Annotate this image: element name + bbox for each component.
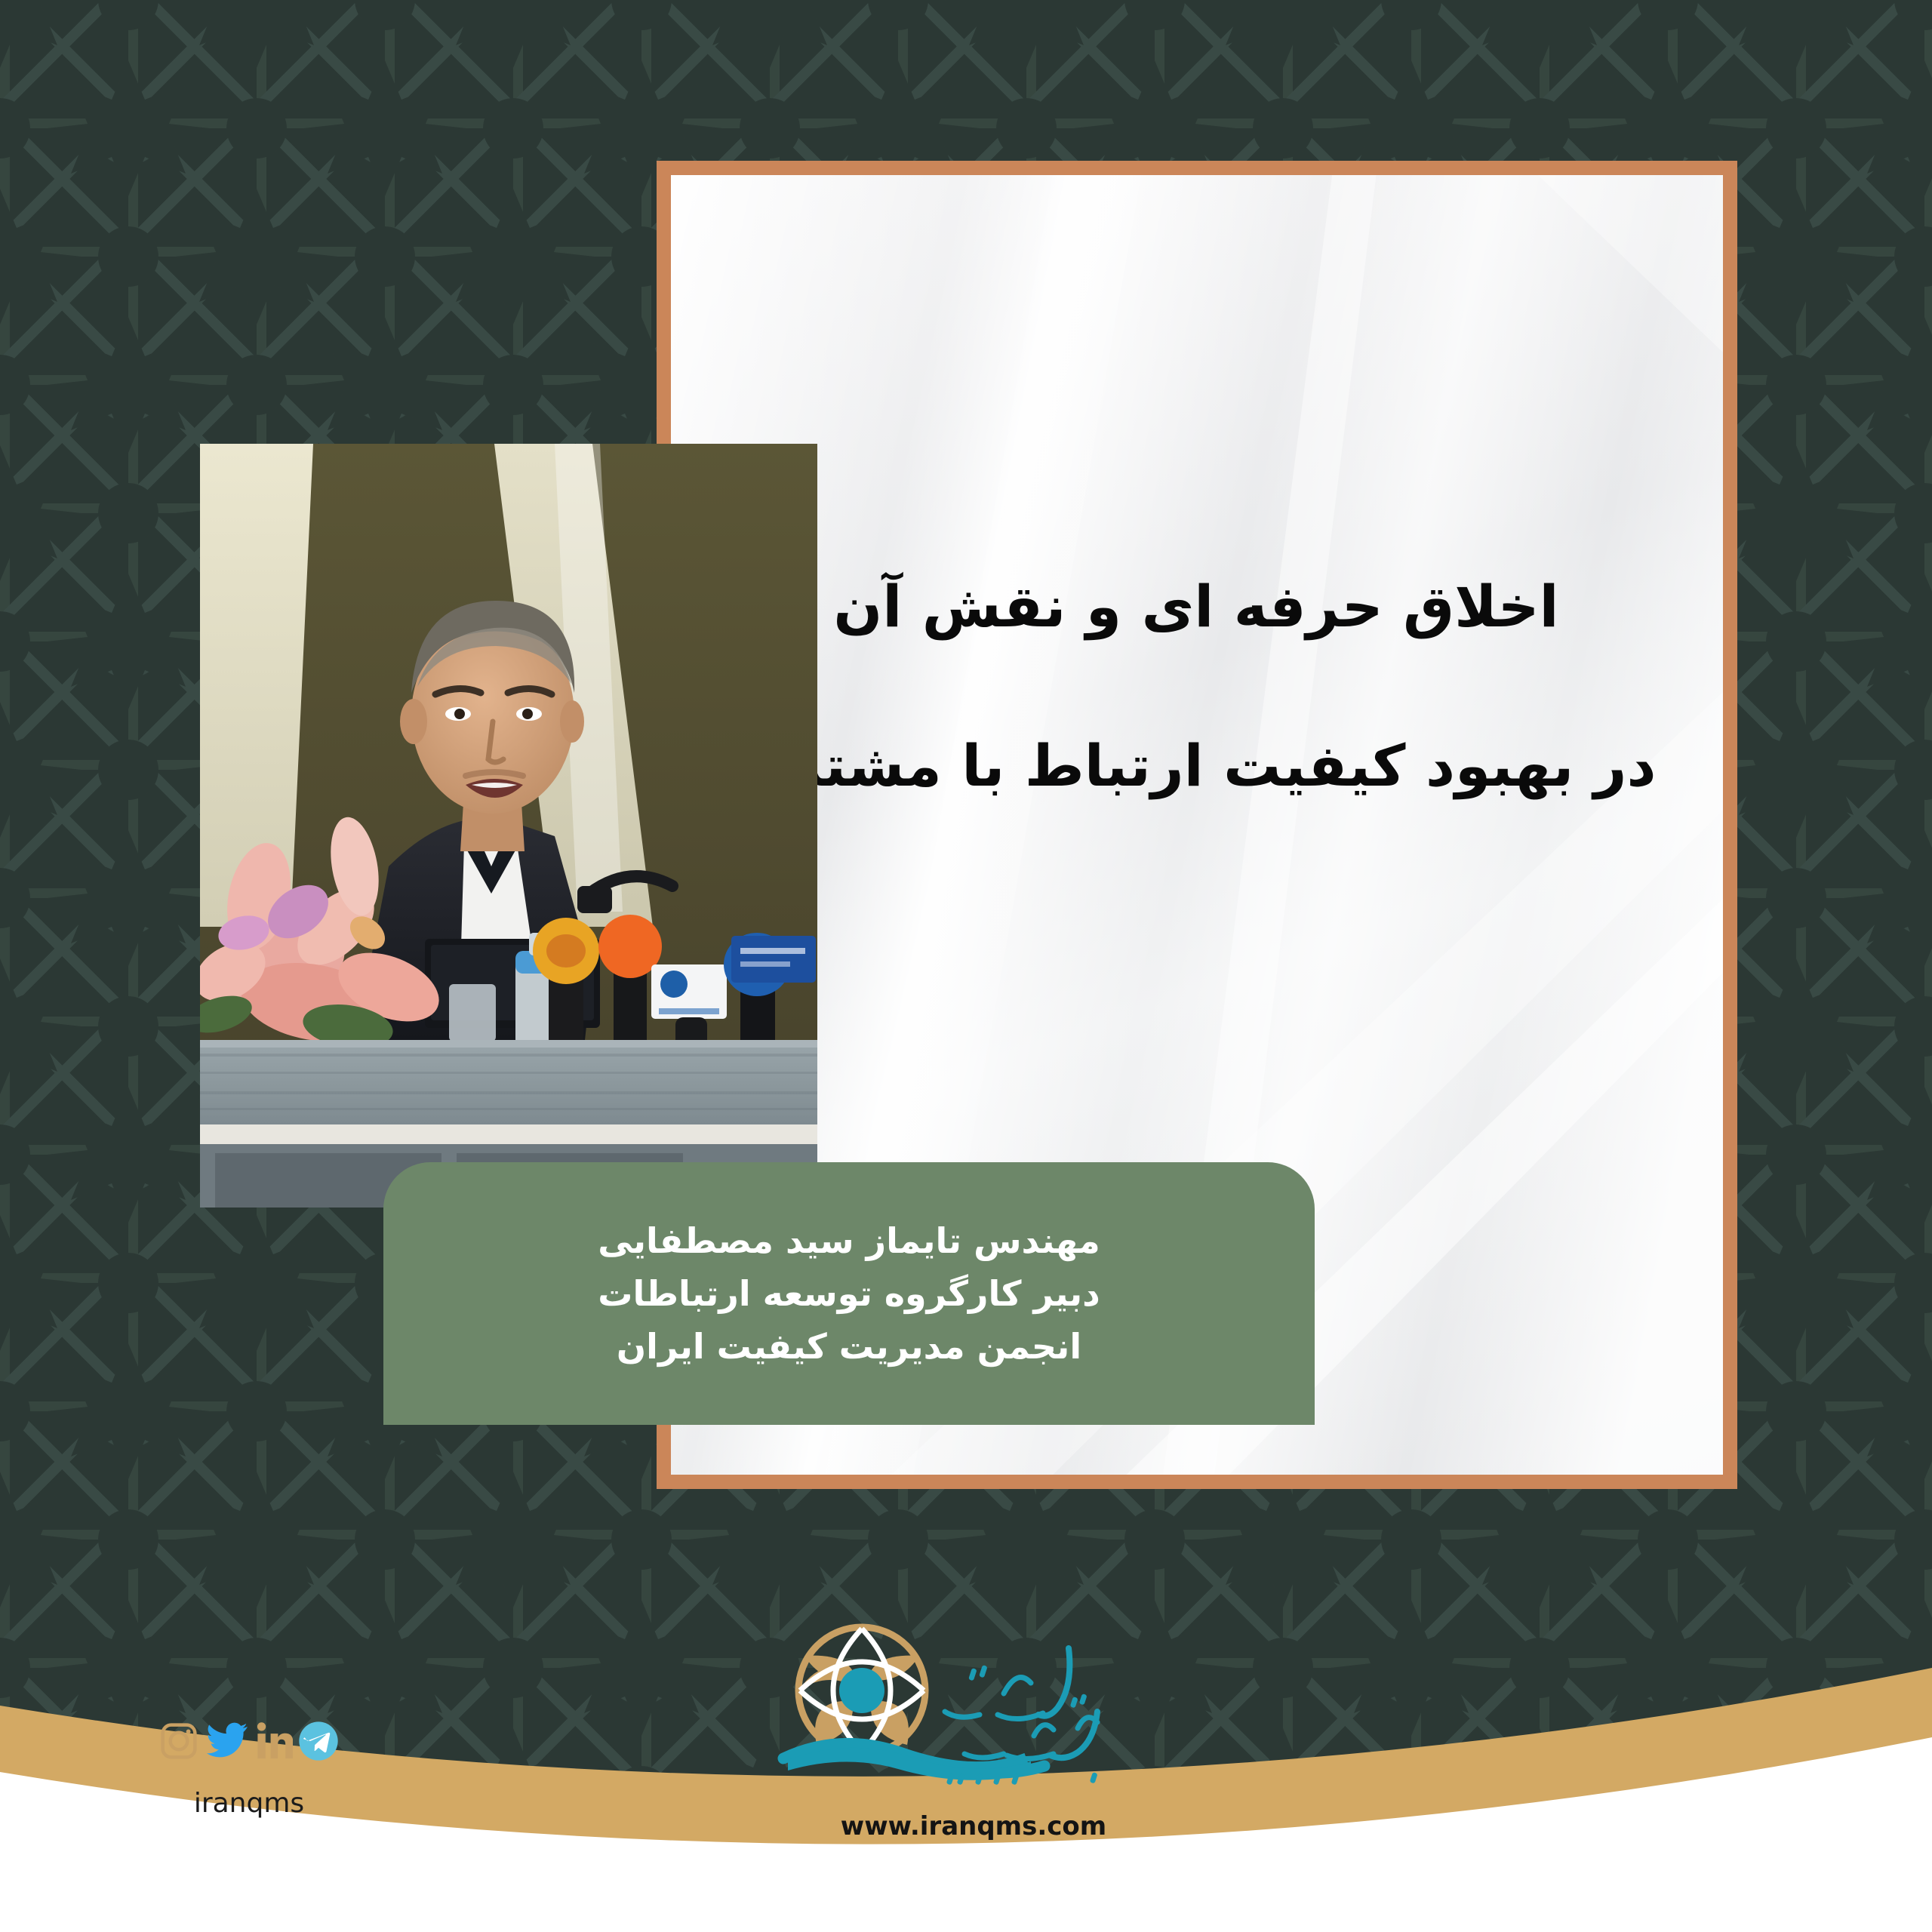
twitter-icon[interactable] <box>204 1721 251 1761</box>
social-icon-row <box>136 1720 362 1762</box>
social-block: iranqms <box>136 1720 362 1819</box>
iranqms-logo-mark <box>762 1618 1185 1807</box>
speaker-organization: انجمن مدیریت کیفیت ایران <box>617 1329 1081 1364</box>
title-line-1: اخلاق حرفه ای و نقش آن <box>694 574 1698 639</box>
website-url[interactable]: www.iranqms.com <box>762 1811 1185 1841</box>
linkedin-icon[interactable] <box>255 1721 293 1761</box>
telegram-icon[interactable] <box>297 1720 340 1762</box>
speaker-photo <box>200 444 817 1207</box>
social-handle: iranqms <box>136 1788 362 1819</box>
organization-logo-block: www.iranqms.com <box>762 1618 1185 1841</box>
speaker-name: مهندس تایماز سید مصطفایی <box>598 1223 1100 1258</box>
title-line-2: در بهبود کیفیت ارتباط با مشتری <box>694 733 1698 798</box>
instagram-icon[interactable] <box>158 1721 199 1761</box>
speaker-info-box: مهندس تایماز سید مصطفایی دبیر کارگروه تو… <box>383 1162 1315 1425</box>
poster-root: اخلاق حرفه ای و نقش آن در بهبود کیفیت ار… <box>0 0 1932 1932</box>
speaker-role: دبیر کارگروه توسعه ارتباطات <box>598 1276 1100 1311</box>
page-title: اخلاق حرفه ای و نقش آن در بهبود کیفیت ار… <box>694 574 1698 799</box>
